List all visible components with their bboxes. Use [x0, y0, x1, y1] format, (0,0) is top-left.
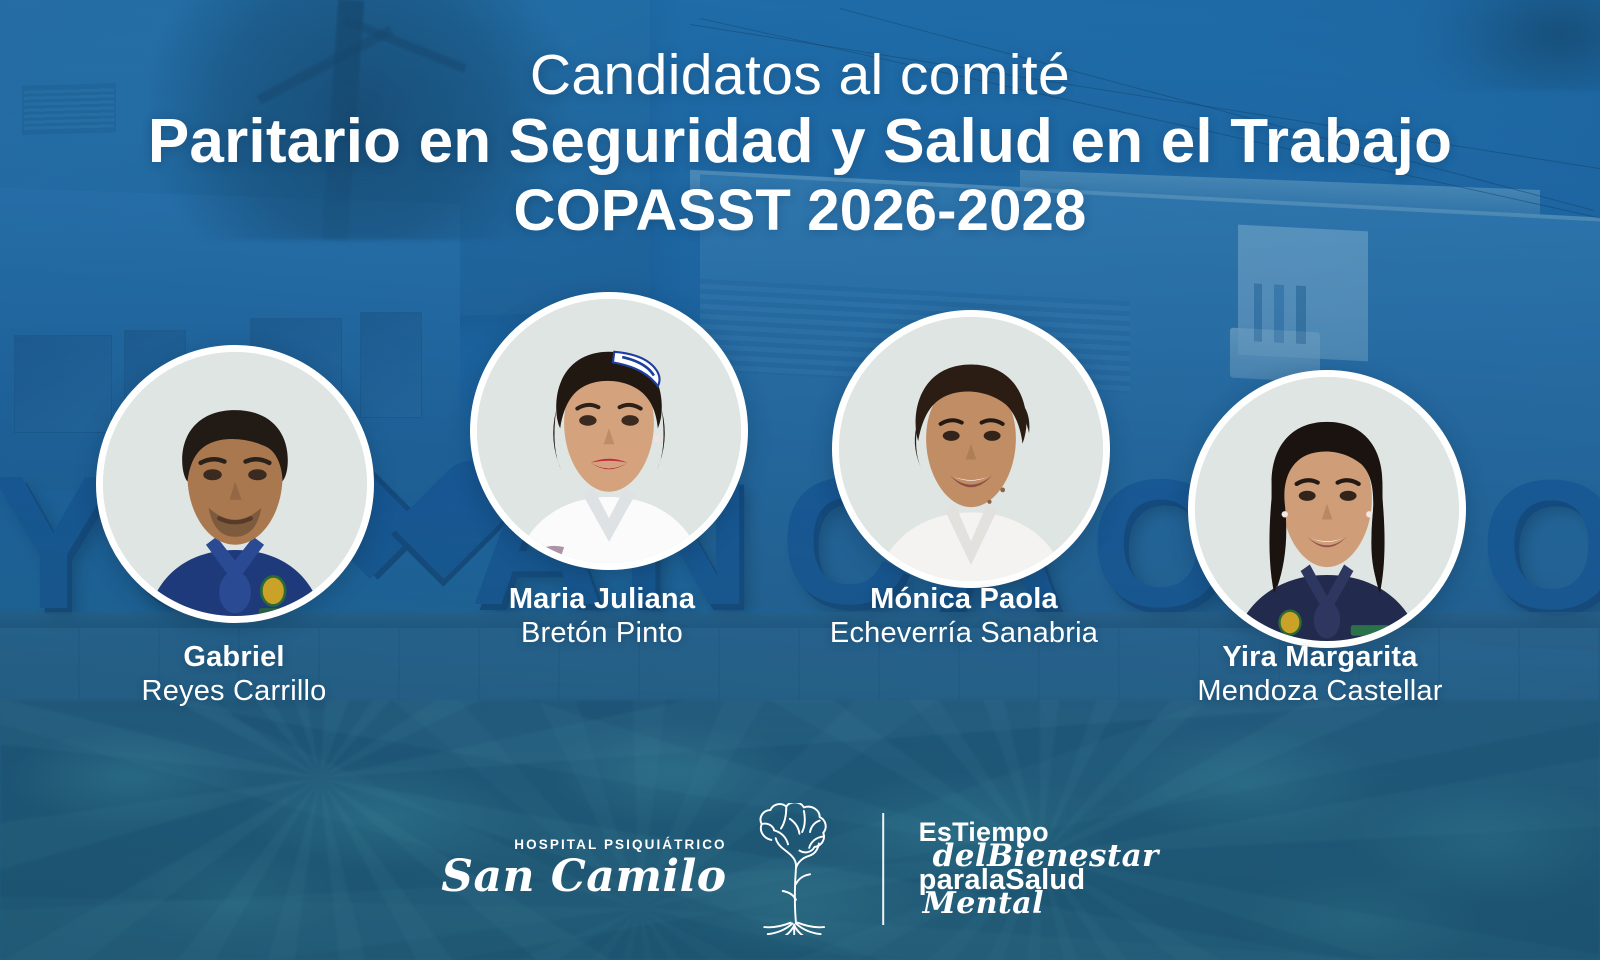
campaign-tagline: EsTiempo delBienestar paralaSalud Mental: [919, 819, 1159, 919]
candidate-last-name: Mendoza Castellar: [1110, 674, 1530, 709]
avatar: [470, 292, 748, 570]
tagline-line-4: Mental: [923, 889, 1159, 919]
brand-kicker: HOSPITAL PSIQUIÁTRICO: [441, 838, 726, 852]
poster-canvas: Y O A N C A O O Candidatos al comité Par…: [0, 0, 1600, 960]
portrait-maria-juliana: [477, 299, 741, 563]
candidate-first-name: Yira Margarita: [1110, 640, 1530, 674]
portrait-gabriel: [103, 352, 367, 616]
brain-tree-icon: [741, 803, 849, 935]
portrait-monica-paola: [839, 317, 1103, 581]
candidate-nameplate: Maria Juliana Bretón Pinto: [392, 582, 812, 651]
candidate-first-name: Mónica Paola: [754, 582, 1174, 616]
candidate-last-name: Reyes Carrillo: [24, 674, 444, 709]
candidate-first-name: Maria Juliana: [392, 582, 812, 616]
poster-footer: HOSPITAL PSIQUIÁTRICO San Camilo: [0, 794, 1600, 944]
portrait-yira-margarita: [1195, 377, 1459, 641]
footer-divider: [883, 813, 885, 925]
hospital-brand: HOSPITAL PSIQUIÁTRICO San Camilo: [441, 803, 848, 935]
candidate-last-name: Bretón Pinto: [392, 616, 812, 651]
candidate-first-name: Gabriel: [24, 640, 444, 674]
avatar: [1188, 370, 1466, 648]
avatar: [832, 310, 1110, 588]
brand-name: San Camilo: [441, 854, 726, 900]
candidate-nameplate: Gabriel Reyes Carrillo: [24, 640, 444, 709]
candidate-nameplate: Yira Margarita Mendoza Castellar: [1110, 640, 1530, 709]
avatar: [96, 345, 374, 623]
